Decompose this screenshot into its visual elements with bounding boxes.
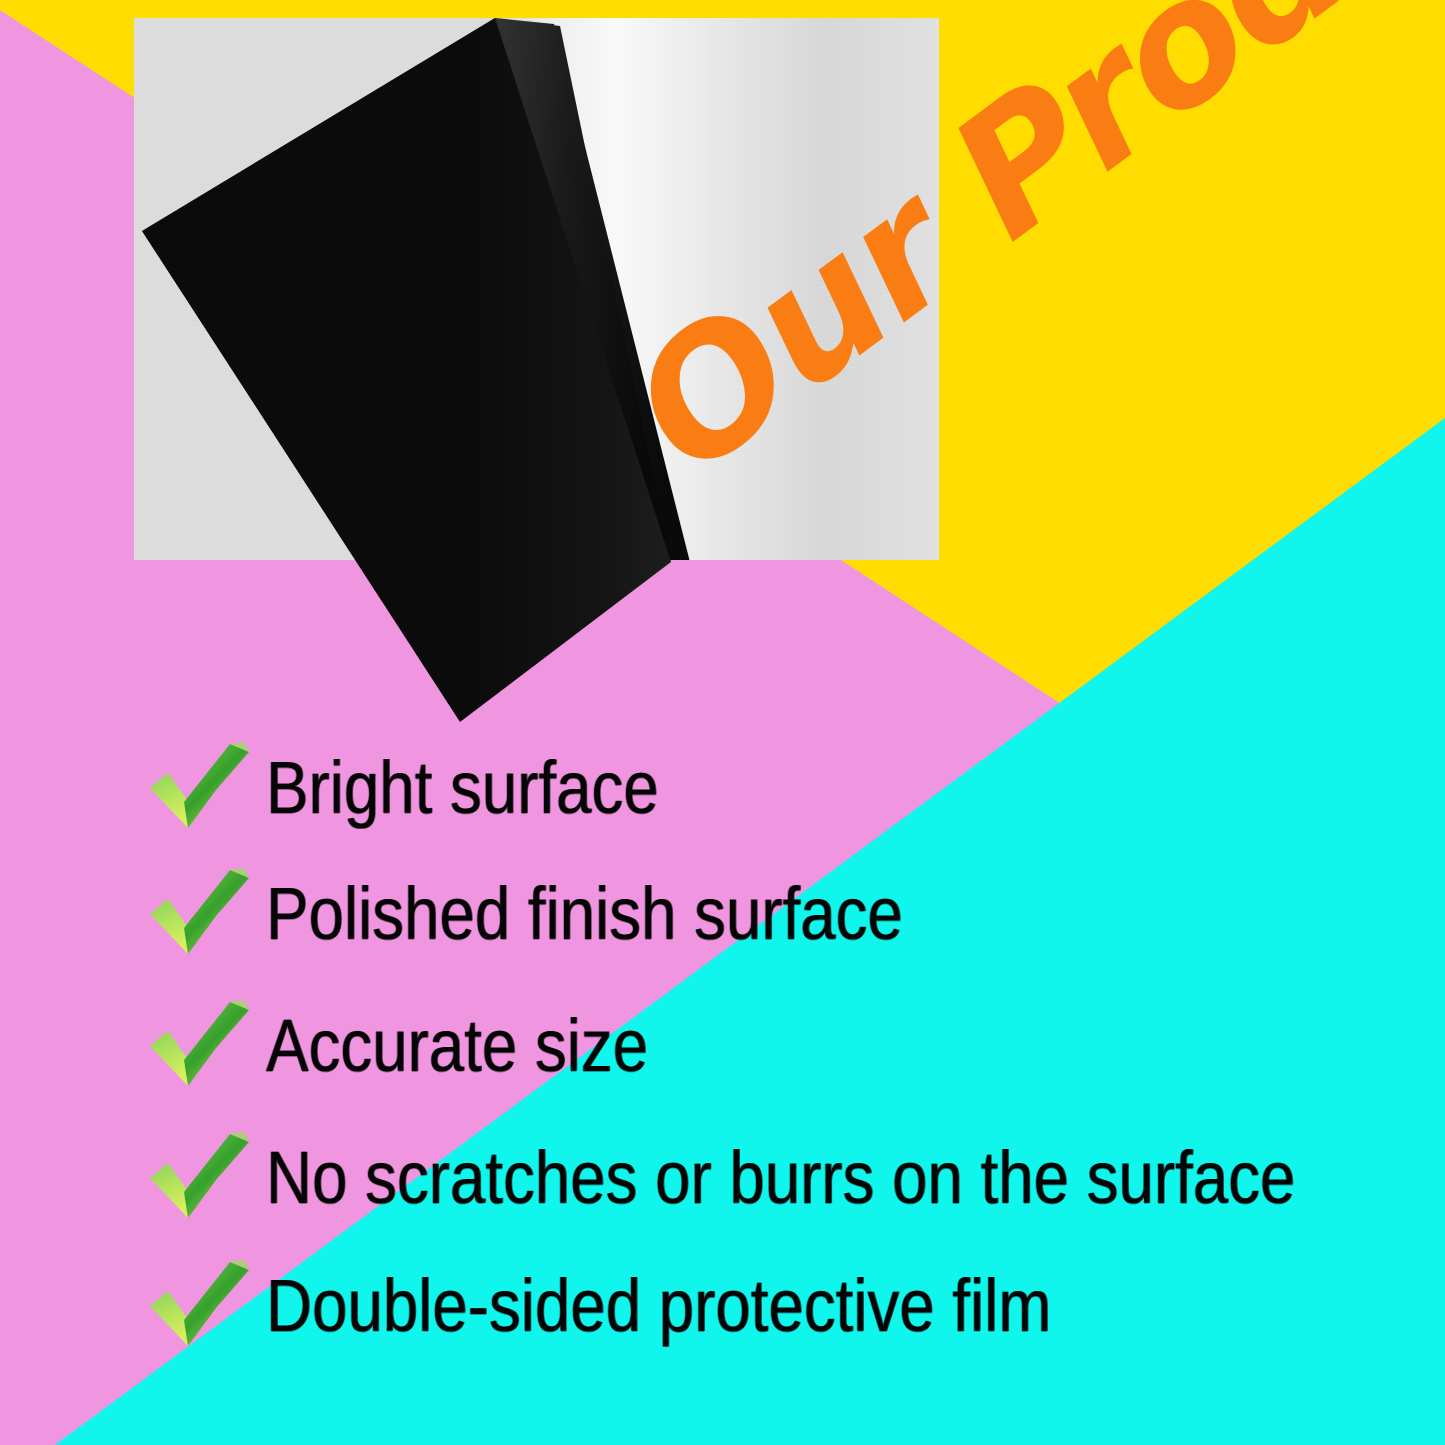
green-checkmark-icon (148, 866, 252, 962)
green-checkmark-icon (148, 740, 252, 836)
feature-label: Accurate size (266, 1009, 648, 1083)
feature-label: Bright surface (266, 751, 659, 825)
list-item: Double-sided protective film (148, 1258, 1179, 1354)
feature-label: Double-sided protective film (266, 1269, 1051, 1343)
feature-label: Polished finish surface (266, 877, 903, 951)
product-feature-banner: Our Product Bright surface (0, 0, 1445, 1445)
list-item: Bright surface (148, 740, 723, 836)
green-checkmark-icon (148, 1258, 252, 1354)
feature-list: Bright surface Polished finish surface (0, 726, 1445, 1366)
list-item: No scratches or burrs on the surface (148, 1130, 1445, 1226)
black-acrylic-plate (134, 18, 939, 560)
list-item: Accurate size (148, 998, 710, 1094)
feature-label: No scratches or burrs on the surface (266, 1141, 1295, 1215)
product-photo (134, 18, 939, 560)
list-item: Polished finish surface (148, 866, 1006, 962)
green-checkmark-icon (148, 1130, 252, 1226)
green-checkmark-icon (148, 998, 252, 1094)
